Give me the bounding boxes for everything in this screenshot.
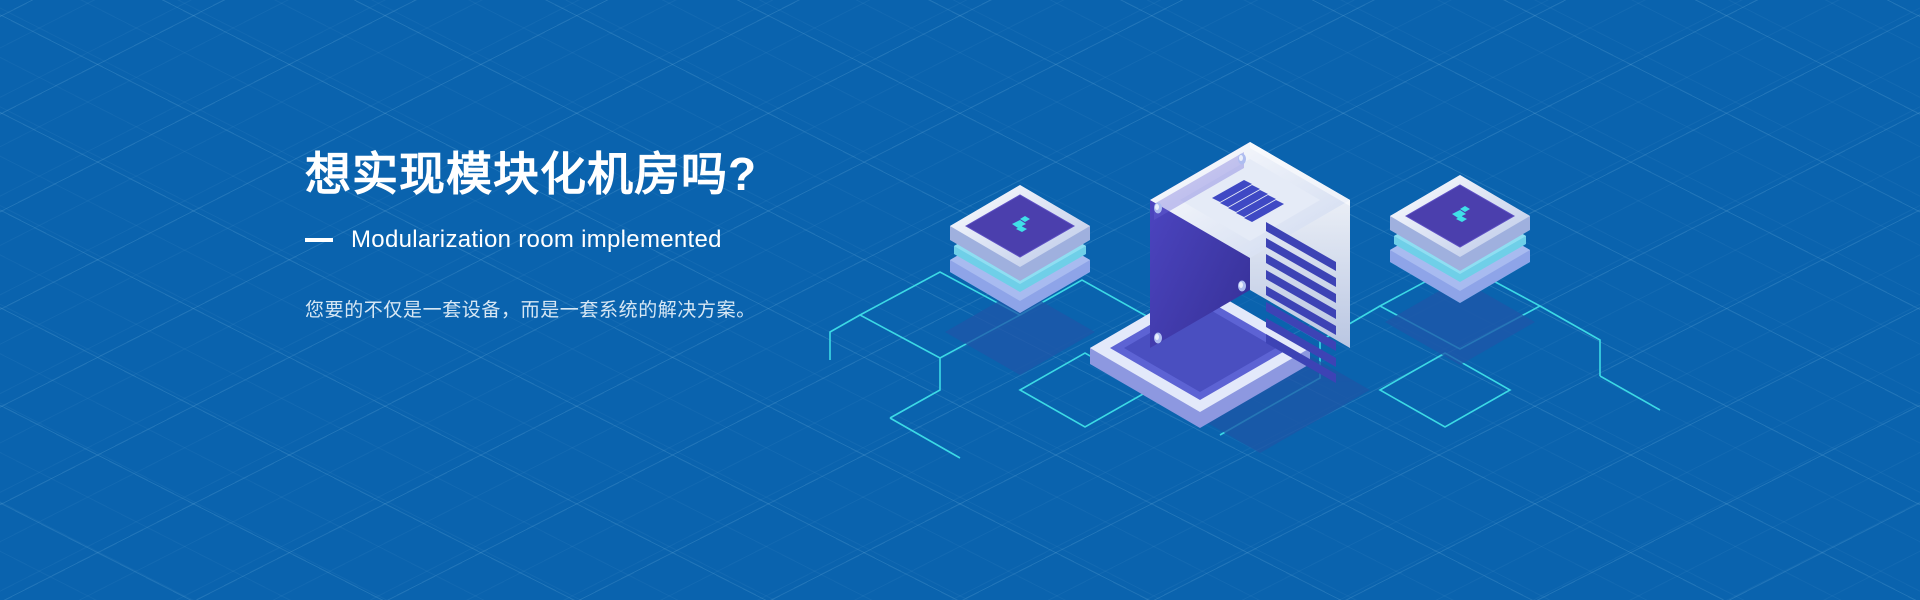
chip-module-left bbox=[950, 185, 1090, 313]
isometric-datacenter-illustration bbox=[820, 60, 1720, 480]
divider-dash-icon bbox=[305, 238, 333, 242]
chip-module-right bbox=[1390, 175, 1530, 303]
hero-banner: 想实现模块化机房吗? Modularization room implement… bbox=[0, 0, 1920, 600]
banner-subtitle: Modularization room implemented bbox=[351, 226, 722, 254]
